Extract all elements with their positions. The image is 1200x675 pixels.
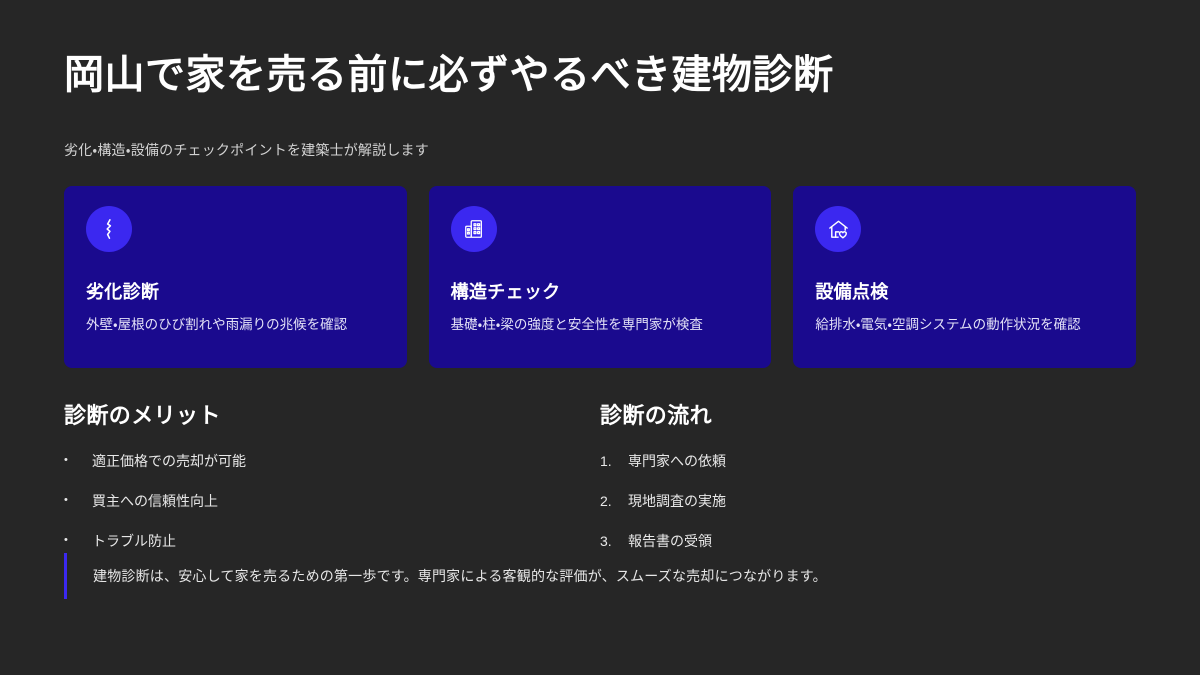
crack-line-icon <box>86 206 132 252</box>
list-item-label: トラブル防止 <box>92 532 600 550</box>
feature-card-group: 劣化診断 外壁・屋根のひび割れや雨漏りの兆候を確認 構造チェ <box>64 186 1136 368</box>
bullet-marker: • <box>64 492 92 510</box>
list-item: • トラブル防止 <box>64 532 600 550</box>
detail-columns: 診断のメリット • 適正価格での売却が可能 • 買主への信頼性向上 • トラブル… <box>64 398 1136 551</box>
number-marker: 1. <box>600 452 628 470</box>
feature-card-deterioration[interactable]: 劣化診断 外壁・屋根のひび割れや雨漏りの兆候を確認 <box>64 186 407 368</box>
feature-card-description: 基礎・柱・梁の強度と安全性を専門家が検査 <box>451 315 750 336</box>
feature-card-equipment[interactable]: 設備点検 給排水・電気・空調システムの動作状況を確認 <box>793 186 1136 368</box>
list-item-label: 適正価格での売却が可能 <box>92 452 600 470</box>
feature-card-title: 設備点検 <box>815 278 1114 304</box>
slide-root: 岡山で家を売る前に必ずやるべき建物診断 劣化・構造・設備のチェックポイントを建築… <box>0 0 1200 675</box>
page-title: 岡山で家を売る前に必ずやるべき建物診断 <box>64 52 1136 98</box>
merits-heading: 診断のメリット <box>64 398 600 430</box>
list-item: 3. 報告書の受領 <box>600 532 1136 550</box>
feature-card-title: 構造チェック <box>451 278 750 304</box>
bullet-marker: • <box>64 452 92 470</box>
feature-card-description: 給排水・電気・空調システムの動作状況を確認 <box>815 315 1114 336</box>
list-item: 2. 現地調査の実施 <box>600 492 1136 510</box>
list-item-label: 買主への信頼性向上 <box>92 492 600 510</box>
callout-quote-text: 建物診断は、安心して家を売るための第一歩です。専門家による客観的な評価が、スムー… <box>93 565 1136 587</box>
list-item: • 適正価格での売却が可能 <box>64 452 600 470</box>
feature-card-description: 外壁・屋根のひび割れや雨漏りの兆候を確認 <box>86 315 385 336</box>
callout-quote: 建物診断は、安心して家を売るための第一歩です。専門家による客観的な評価が、スムー… <box>64 553 1136 599</box>
list-item: • 買主への信頼性向上 <box>64 492 600 510</box>
merits-list: • 適正価格での売却が可能 • 買主への信頼性向上 • トラブル防止 <box>64 452 600 551</box>
feature-card-title: 劣化診断 <box>86 278 385 304</box>
merits-section: 診断のメリット • 適正価格での売却が可能 • 買主への信頼性向上 • トラブル… <box>64 398 600 551</box>
flow-section: 診断の流れ 1. 専門家への依頼 2. 現地調査の実施 3. 報告書の受領 <box>600 398 1136 551</box>
list-item-label: 報告書の受領 <box>628 532 1136 550</box>
list-item: 1. 専門家への依頼 <box>600 452 1136 470</box>
number-marker: 2. <box>600 492 628 510</box>
list-item-label: 現地調査の実施 <box>628 492 1136 510</box>
page-subtitle: 劣化・構造・設備のチェックポイントを建築士が解説します <box>64 140 1136 160</box>
building-icon <box>451 206 497 252</box>
feature-card-structure[interactable]: 構造チェック 基礎・柱・梁の強度と安全性を専門家が検査 <box>429 186 772 368</box>
bullet-marker: • <box>64 532 92 550</box>
number-marker: 3. <box>600 532 628 550</box>
house-heart-icon <box>815 206 861 252</box>
list-item-label: 専門家への依頼 <box>628 452 1136 470</box>
flow-list: 1. 専門家への依頼 2. 現地調査の実施 3. 報告書の受領 <box>600 452 1136 551</box>
flow-heading: 診断の流れ <box>600 398 1136 430</box>
